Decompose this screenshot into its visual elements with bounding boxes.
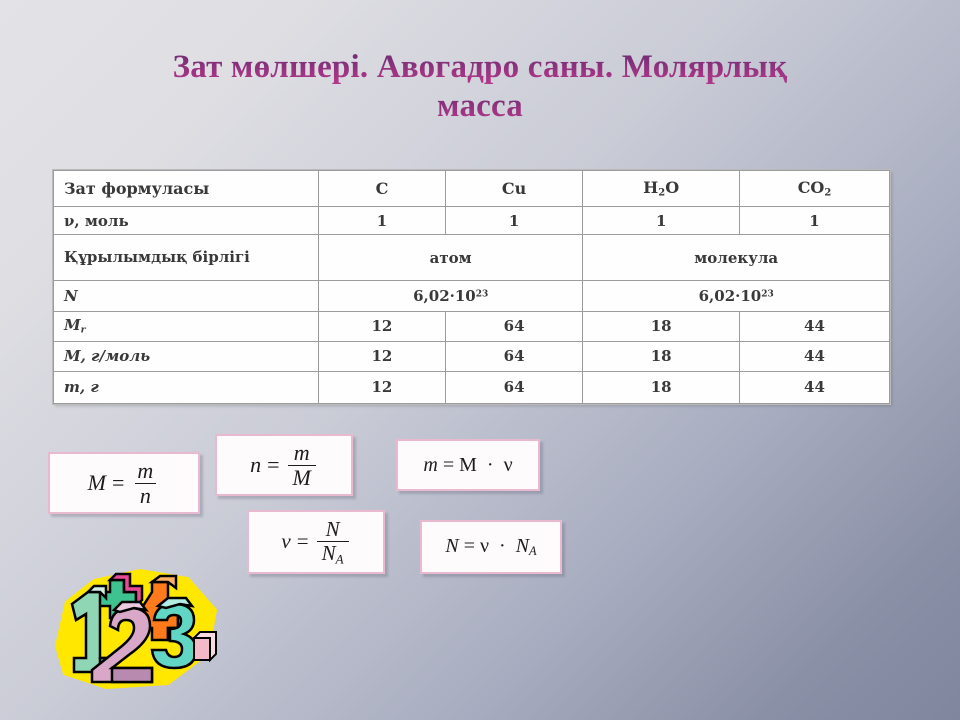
cell-mr-c: 12 xyxy=(319,311,446,341)
cell-molar-cu: 64 xyxy=(445,341,582,371)
table-row-substance-formula: Зат формуласы C Cu H2O CO2 xyxy=(54,171,890,207)
formula-card-amount-from-particles: ν = N NA xyxy=(247,510,385,574)
formula-molar-mass: M = m n xyxy=(88,460,161,507)
row-label-amount: ν, моль xyxy=(54,207,319,235)
cell-formula-co2: CO2 xyxy=(739,171,889,207)
table-row-structural-unit: Құрылымдық бірлігі атом молекула xyxy=(54,235,890,281)
row-label-relative-mass: Mr xyxy=(54,311,319,341)
slide-title-line-1: Зат мөлшері. Авогадро саны. Молярлық xyxy=(80,48,880,87)
cell-molar-h2o: 18 xyxy=(583,341,740,371)
cell-amount-co2: 1 xyxy=(739,207,889,235)
formula-card-particles: N = ν · NA xyxy=(420,520,562,574)
cell-mr-co2: 44 xyxy=(739,311,889,341)
cell-formula-cu: Cu xyxy=(445,171,582,207)
cell-molar-c: 12 xyxy=(319,341,446,371)
cell-formula-h2o: H2O xyxy=(583,171,740,207)
cell-mass-co2: 44 xyxy=(739,371,889,403)
table-row-mass: m, г 12 64 18 44 xyxy=(54,371,890,403)
formula-particles: N = ν · NA xyxy=(445,535,536,559)
cell-particles-molecules: 6,02·1023 xyxy=(583,281,890,311)
formula-card-mass: m = M · ν xyxy=(396,439,540,491)
cell-formula-c: C xyxy=(319,171,446,207)
formula-amount-from-mass: n = m M xyxy=(250,442,318,489)
cell-mass-h2o: 18 xyxy=(583,371,740,403)
cell-amount-cu: 1 xyxy=(445,207,582,235)
cell-amount-c: 1 xyxy=(319,207,446,235)
row-label-structural-unit: Құрылымдық бірлігі xyxy=(54,235,319,281)
slide-title-line-2: масса xyxy=(80,87,880,126)
cell-mass-cu: 64 xyxy=(445,371,582,403)
numbers-clipart xyxy=(48,558,223,693)
cell-structural-unit-molecule: молекула xyxy=(583,235,890,281)
cell-molar-co2: 44 xyxy=(739,341,889,371)
formula-mass: m = M · ν xyxy=(423,454,512,477)
formula-card-molar-mass: M = m n xyxy=(48,452,200,514)
cell-amount-h2o: 1 xyxy=(583,207,740,235)
row-label-molar-mass: M, г/моль xyxy=(54,341,319,371)
table-row-particles: N 6,02·1023 6,02·1023 xyxy=(54,281,890,311)
row-label-substance-formula: Зат формуласы xyxy=(54,171,319,207)
cell-structural-unit-atom: атом xyxy=(319,235,583,281)
slide-title: Зат мөлшері. Авогадро саны. Молярлық мас… xyxy=(80,48,880,126)
table-row-molar-mass: M, г/моль 12 64 18 44 xyxy=(54,341,890,371)
cell-mr-h2o: 18 xyxy=(583,311,740,341)
row-label-particles: N xyxy=(54,281,319,311)
formula-card-amount-from-mass: n = m M xyxy=(215,434,353,496)
table-row-relative-mass: Mr 12 64 18 44 xyxy=(54,311,890,341)
cell-mr-cu: 64 xyxy=(445,311,582,341)
row-label-mass: m, г xyxy=(54,371,319,403)
numbers-clipart-icon xyxy=(48,558,223,693)
mole-quantities-table: Зат формуласы C Cu H2O CO2 ν, моль 1 1 1… xyxy=(53,170,890,404)
table: Зат формуласы C Cu H2O CO2 ν, моль 1 1 1… xyxy=(53,170,890,404)
formula-amount-from-particles: ν = N NA xyxy=(281,519,350,565)
cell-mass-c: 12 xyxy=(319,371,446,403)
cell-particles-atoms: 6,02·1023 xyxy=(319,281,583,311)
table-row-amount: ν, моль 1 1 1 1 xyxy=(54,207,890,235)
